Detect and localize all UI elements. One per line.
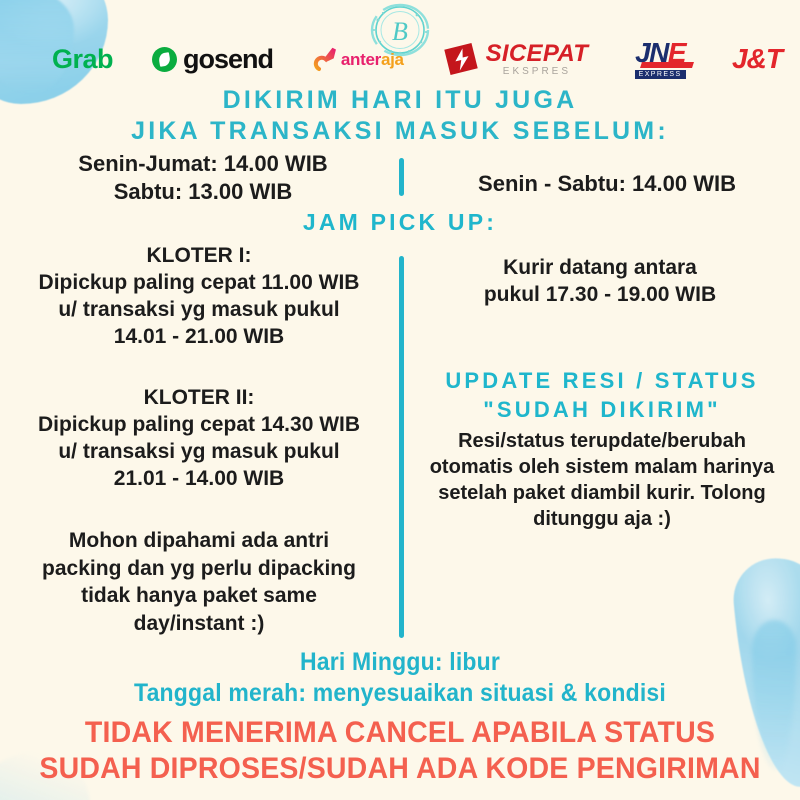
- update-status-body-line4: ditunggu aja :): [410, 506, 794, 532]
- kloter-2-line3: 21.01 - 14.00 WIB: [4, 466, 394, 493]
- cutoff-left-block: Senin-Jumat: 14.00 WIB Sabtu: 13.00 WIB: [28, 150, 378, 206]
- courier-logo-row: Grab gosend anteraja: [0, 36, 800, 82]
- gosend-mark-icon: [152, 47, 177, 72]
- jt-logo-text: J&T: [732, 45, 782, 73]
- jne-red-bar-icon: [640, 62, 694, 68]
- jne-logo: JNE EXPRESS: [627, 39, 693, 79]
- jne-logo-subtext: EXPRESS: [635, 70, 686, 79]
- anteraja-logo: anteraja: [312, 46, 404, 72]
- anteraja-mark-icon: [312, 46, 338, 72]
- poster-canvas: B Grab gosend: [0, 0, 800, 800]
- kloter-2-line2: u/ transaksi yg masuk pukul: [4, 439, 394, 466]
- update-status-heading-line2: "SUDAH DIKIRIM": [410, 395, 794, 424]
- kloter-1-line2: u/ transaksi yg masuk pukul: [4, 297, 394, 324]
- grab-logo-text: Grab: [52, 46, 113, 73]
- jt-logo: J&T: [732, 45, 782, 73]
- sicepat-logo: SICEPAT EKSPRES: [443, 41, 589, 77]
- pickup-heading: JAM PICK UP:: [0, 209, 800, 236]
- gosend-logo-text: gosend: [183, 46, 273, 73]
- headline-primary: DIKIRIM HARI ITU JUGA: [0, 84, 800, 117]
- sicepat-mark-icon: [443, 41, 479, 77]
- divider-short: [399, 158, 404, 196]
- gosend-logo: gosend: [152, 46, 273, 73]
- packing-note-line3: tidak hanya paket same: [8, 582, 390, 610]
- footer-warning-line1: TIDAK MENERIMA CANCEL APABILA STATUS: [20, 716, 780, 750]
- update-status-heading-line1: UPDATE RESI / STATUS: [410, 366, 794, 395]
- courier-arrival-line1: Kurir datang antara: [410, 255, 790, 282]
- packing-note-line2: packing dan yg perlu dipacking: [8, 555, 390, 583]
- update-status-body-line1: Resi/status terupdate/berubah: [410, 428, 794, 454]
- cutoff-right-block: Senin - Sabtu: 14.00 WIB: [422, 170, 792, 198]
- courier-arrival-block: Kurir datang antara pukul 17.30 - 19.00 …: [410, 255, 790, 309]
- kloter-2-line1: Dipickup paling cepat 14.30 WIB: [4, 412, 394, 439]
- headline-secondary: JIKA TRANSAKSI MASUK SEBELUM:: [0, 115, 800, 148]
- anteraja-text-part1: anter: [341, 50, 381, 69]
- divider-long: [399, 256, 404, 638]
- update-status-body-line2: otomatis oleh sistem malam harinya: [410, 454, 794, 480]
- cutoff-left-line2: Sabtu: 13.00 WIB: [28, 178, 378, 206]
- update-status-heading: UPDATE RESI / STATUS "SUDAH DIKIRIM": [410, 366, 794, 425]
- packing-note-block: Mohon dipahami ada antri packing dan yg …: [8, 527, 390, 638]
- kloter-1-block: KLOTER I: Dipickup paling cepat 11.00 WI…: [4, 243, 394, 351]
- footer-red-day-note: Tanggal merah: menyesuaikan situasi & ko…: [32, 679, 768, 708]
- update-status-body-line3: setelah paket diambil kurir. Tolong: [410, 480, 794, 506]
- footer-warning-line2: SUDAH DIPROSES/SUDAH ADA KODE PENGIRIMAN: [20, 752, 780, 786]
- kloter-1-title: KLOTER I:: [4, 243, 394, 270]
- update-status-body: Resi/status terupdate/berubah otomatis o…: [410, 428, 794, 532]
- kloter-2-block: KLOTER II: Dipickup paling cepat 14.30 W…: [4, 385, 394, 493]
- courier-arrival-line2: pukul 17.30 - 19.00 WIB: [410, 282, 790, 309]
- cutoff-left-line1: Senin-Jumat: 14.00 WIB: [28, 150, 378, 178]
- sicepat-logo-subtext: EKSPRES: [503, 67, 571, 77]
- packing-note-line4: day/instant :): [8, 610, 390, 638]
- kloter-1-line3: 14.01 - 21.00 WIB: [4, 324, 394, 351]
- footer-sunday-note: Hari Minggu: libur: [32, 648, 768, 677]
- anteraja-logo-text: anteraja: [341, 51, 404, 68]
- anteraja-text-part2: aja: [381, 50, 404, 69]
- kloter-1-line1: Dipickup paling cepat 11.00 WIB: [4, 270, 394, 297]
- grab-logo: Grab: [52, 46, 113, 73]
- sicepat-logo-text: SICEPAT: [486, 42, 589, 66]
- cutoff-right-line1: Senin - Sabtu: 14.00 WIB: [422, 170, 792, 198]
- sicepat-text-block: SICEPAT EKSPRES: [486, 42, 589, 77]
- packing-note-line1: Mohon dipahami ada antri: [8, 527, 390, 555]
- kloter-2-title: KLOTER II:: [4, 385, 394, 412]
